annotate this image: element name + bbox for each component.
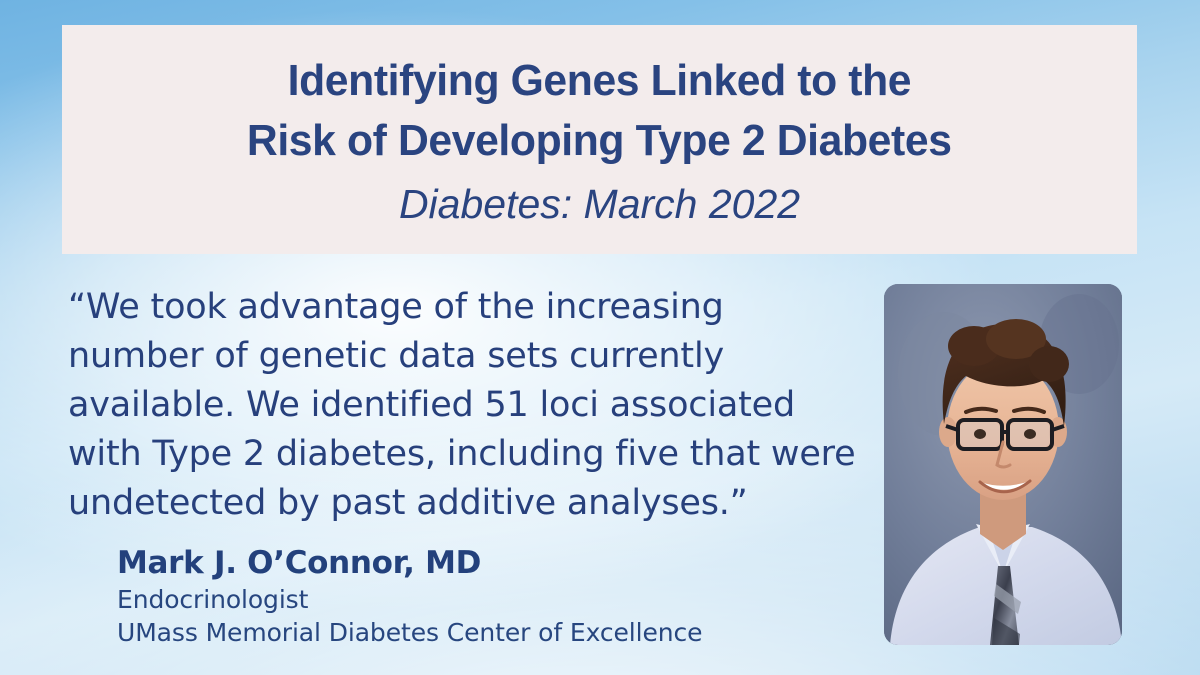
portrait-photo-icon [884,284,1122,645]
quote-line: “We took advantage of the increasing [68,283,880,332]
page-subtitle: Diabetes: March 2022 [399,173,800,235]
page-title-line-2: Risk of Developing Type 2 Diabetes [247,111,952,171]
attribution: Mark J. O’Connor, MD Endocrinologist UMa… [117,543,702,649]
page-title-line-1: Identifying Genes Linked to the [288,51,911,111]
quote-line: with Type 2 diabetes, including five tha… [68,430,880,479]
quote-line: available. We identified 51 loci associa… [68,381,880,430]
title-card: Identifying Genes Linked to the Risk of … [62,25,1137,254]
author-name: Mark J. O’Connor, MD [117,543,702,583]
quote-block: “We took advantage of the increasing num… [68,283,880,528]
author-organization: UMass Memorial Diabetes Center of Excell… [117,616,702,649]
author-role: Endocrinologist [117,583,702,616]
quote-slide: Identifying Genes Linked to the Risk of … [0,0,1200,675]
quote-line: undetected by past additive analyses.” [68,479,880,528]
quote-line: number of genetic data sets currently [68,332,880,381]
avatar [884,284,1122,645]
